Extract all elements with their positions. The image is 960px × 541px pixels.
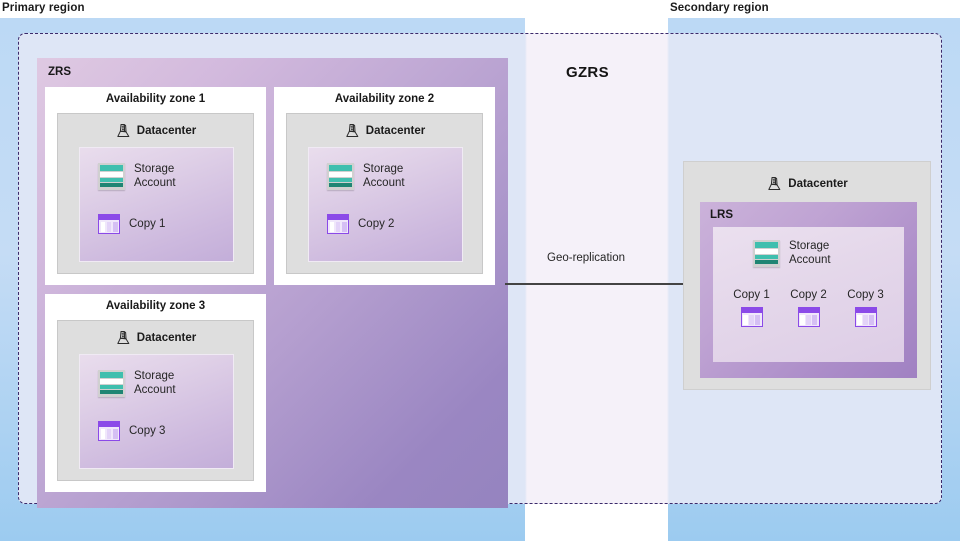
copy-label: Copy 3 <box>129 424 165 438</box>
copy-icon <box>98 214 120 234</box>
lrs-copies-grid: Copy 1 Copy 2 Copy 3 <box>713 289 904 327</box>
datacenter-header: Datacenter <box>684 175 930 192</box>
copy-label: Copy 3 <box>847 289 883 301</box>
storage-account-label: Storage Account <box>134 369 176 397</box>
storage-account-icon <box>327 163 354 190</box>
datacenter-label: Datacenter <box>788 178 847 190</box>
availability-zone-1-title: Availability zone 1 <box>45 93 266 105</box>
geo-replication-label: Geo-replication <box>547 252 625 264</box>
primary-region-label: Primary region <box>2 2 85 14</box>
diagram-canvas: Primary region Secondary region GZRS ZRS… <box>0 0 960 541</box>
availability-zone-3-title: Availability zone 3 <box>45 300 266 312</box>
storage-account-label: Storage Account <box>134 162 176 190</box>
secondary-datacenter-panel: Datacenter LRS Storage Account Copy 1 <box>683 161 931 390</box>
datacenter-header: Datacenter <box>287 122 482 139</box>
availability-zone-2-title: Availability zone 2 <box>274 93 495 105</box>
lrs-container: LRS Storage Account Copy 1 <box>700 202 917 378</box>
copy-label: Copy 1 <box>733 289 769 301</box>
availability-zone-2-card: Availability zone 2 Datacenter <box>274 87 495 285</box>
storage-account-row: Storage Account <box>98 369 176 397</box>
availability-zone-1-card: Availability zone 1 Datacenter <box>45 87 266 285</box>
datacenter-icon <box>344 122 361 139</box>
storage-line-1: Storage <box>134 370 174 382</box>
storage-line-1: Storage <box>789 240 829 252</box>
storage-account-label: Storage Account <box>363 162 405 190</box>
lrs-label: LRS <box>710 209 733 221</box>
copy-cell: Copy 1 <box>733 289 769 327</box>
storage-account-row: Storage Account <box>753 239 831 267</box>
lrs-resources-panel: Storage Account Copy 1 Copy 2 <box>713 227 904 362</box>
datacenter-panel-zone-1: Datacenter Storage Account Copy 1 <box>57 113 254 274</box>
datacenter-label: Datacenter <box>137 332 196 344</box>
copy-icon <box>327 214 349 234</box>
zone-3-resources-panel: Storage Account Copy 3 <box>79 354 234 469</box>
storage-line-2: Account <box>363 177 405 189</box>
copy-row: Copy 2 <box>327 214 394 234</box>
storage-line-2: Account <box>134 384 176 396</box>
storage-account-icon <box>753 240 780 267</box>
datacenter-header: Datacenter <box>58 122 253 139</box>
copy-label: Copy 2 <box>790 289 826 301</box>
copy-row: Copy 3 <box>98 421 165 441</box>
zrs-label: ZRS <box>48 66 71 78</box>
copy-icon <box>798 307 820 327</box>
copy-row: Copy 1 <box>98 214 165 234</box>
storage-account-label: Storage Account <box>789 239 831 267</box>
datacenter-label: Datacenter <box>137 125 196 137</box>
datacenter-icon <box>766 175 783 192</box>
copy-icon <box>98 421 120 441</box>
datacenter-panel-zone-2: Datacenter Storage Account Copy 2 <box>286 113 483 274</box>
gzrs-label: GZRS <box>566 64 609 81</box>
copy-cell: Copy 3 <box>847 289 883 327</box>
availability-zone-3-card: Availability zone 3 Datacenter <box>45 294 266 492</box>
zone-2-resources-panel: Storage Account Copy 2 <box>308 147 463 262</box>
storage-line-1: Storage <box>134 163 174 175</box>
storage-account-icon <box>98 370 125 397</box>
storage-account-icon <box>98 163 125 190</box>
storage-account-row: Storage Account <box>327 162 405 190</box>
storage-line-1: Storage <box>363 163 403 175</box>
copy-label: Copy 1 <box>129 217 165 231</box>
copy-icon <box>855 307 877 327</box>
datacenter-panel-zone-3: Datacenter Storage Account Copy 3 <box>57 320 254 481</box>
storage-line-2: Account <box>134 177 176 189</box>
storage-account-row: Storage Account <box>98 162 176 190</box>
datacenter-header: Datacenter <box>58 329 253 346</box>
secondary-region-label: Secondary region <box>670 2 769 14</box>
copy-cell: Copy 2 <box>790 289 826 327</box>
copy-label: Copy 2 <box>358 217 394 231</box>
datacenter-icon <box>115 122 132 139</box>
copy-icon <box>741 307 763 327</box>
datacenter-label: Datacenter <box>366 125 425 137</box>
storage-line-2: Account <box>789 254 831 266</box>
zone-1-resources-panel: Storage Account Copy 1 <box>79 147 234 262</box>
datacenter-icon <box>115 329 132 346</box>
